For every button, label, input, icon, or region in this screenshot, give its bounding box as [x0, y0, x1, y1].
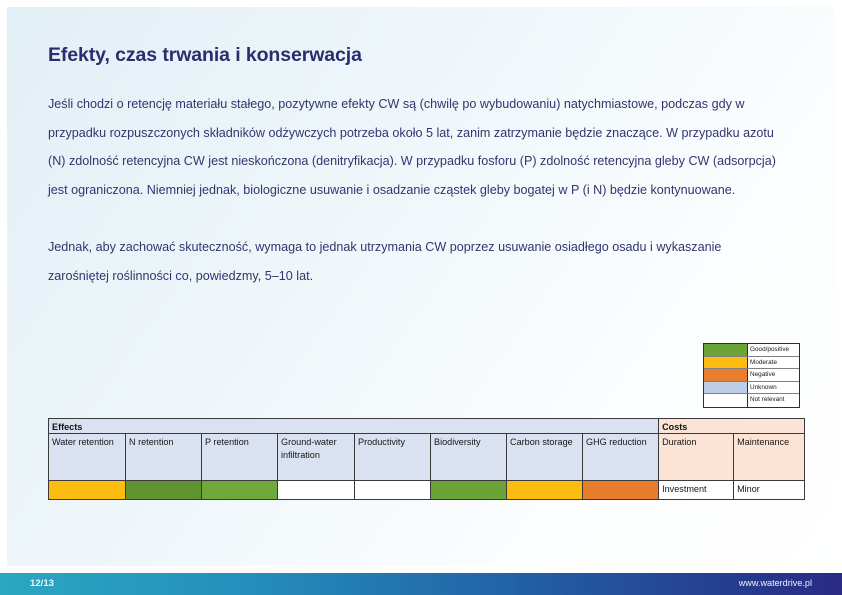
table-cell [49, 481, 126, 500]
table-column-header-row: Water retentionN retentionP retentionGro… [49, 434, 805, 481]
table-column-header: Productivity [355, 434, 431, 481]
legend-row: Moderate [704, 357, 799, 370]
legend-label: Unknown [748, 382, 799, 394]
legend-swatch [704, 369, 748, 381]
slide: Efekty, czas trwania i konserwacja Jeśli… [0, 0, 842, 595]
table-column-header: Ground-water infiltration [278, 434, 355, 481]
legend-label: Good/positive [748, 344, 799, 356]
table-cell: Investment [659, 481, 734, 500]
footer-url[interactable]: www.waterdrive.pl [739, 578, 812, 588]
table-cell: Minor [734, 481, 805, 500]
legend-swatch [704, 344, 748, 356]
paragraph-2: Jednak, aby zachować skuteczność, wymaga… [48, 233, 778, 290]
table-cell [202, 481, 278, 500]
table-cell [278, 481, 355, 500]
table-group-header-row: EffectsCosts [49, 419, 805, 434]
frame-left [0, 0, 7, 573]
legend-label: Negative [748, 369, 799, 381]
paragraph-spacer [48, 204, 778, 233]
table-group-header: Effects [49, 419, 659, 434]
legend-swatch [704, 394, 748, 407]
paragraph-1: Jeśli chodzi o retencję materiału stałeg… [48, 90, 778, 204]
table-column-header: Maintenance [734, 434, 805, 481]
table-column-header: N retention [126, 434, 202, 481]
table-cell [126, 481, 202, 500]
rating-legend: Good/positiveModerateNegativeUnknownNot … [703, 343, 800, 408]
legend-row: Not relevant [704, 394, 799, 407]
table-column-header: Water retention [49, 434, 126, 481]
table-cell [431, 481, 507, 500]
table-cell [355, 481, 431, 500]
table-column-header: Carbon storage [507, 434, 583, 481]
table-group-header: Costs [659, 419, 805, 434]
table-cell [583, 481, 659, 500]
table-column-header: GHG reduction [583, 434, 659, 481]
legend-row: Negative [704, 369, 799, 382]
frame-bottom [0, 566, 842, 573]
table-column-header: Duration [659, 434, 734, 481]
table-column-header: P retention [202, 434, 278, 481]
legend-swatch [704, 357, 748, 369]
page-title: Efekty, czas trwania i konserwacja [48, 44, 362, 67]
legend-row: Good/positive [704, 344, 799, 357]
body-text: Jeśli chodzi o retencję materiału stałeg… [48, 90, 778, 290]
legend-swatch [704, 382, 748, 394]
frame-right [835, 0, 842, 573]
footer-page-number: 12/13 [30, 578, 54, 589]
table-cell [507, 481, 583, 500]
frame-top [0, 0, 842, 7]
footer-bar: 12/13 www.waterdrive.pl [0, 573, 842, 595]
legend-row: Unknown [704, 382, 799, 395]
effects-costs-table: EffectsCosts Water retentionN retentionP… [48, 418, 805, 500]
legend-label: Not relevant [748, 394, 799, 407]
table-row: InvestmentMinor [49, 481, 805, 500]
table-column-header: Biodiversity [431, 434, 507, 481]
legend-label: Moderate [748, 357, 799, 369]
